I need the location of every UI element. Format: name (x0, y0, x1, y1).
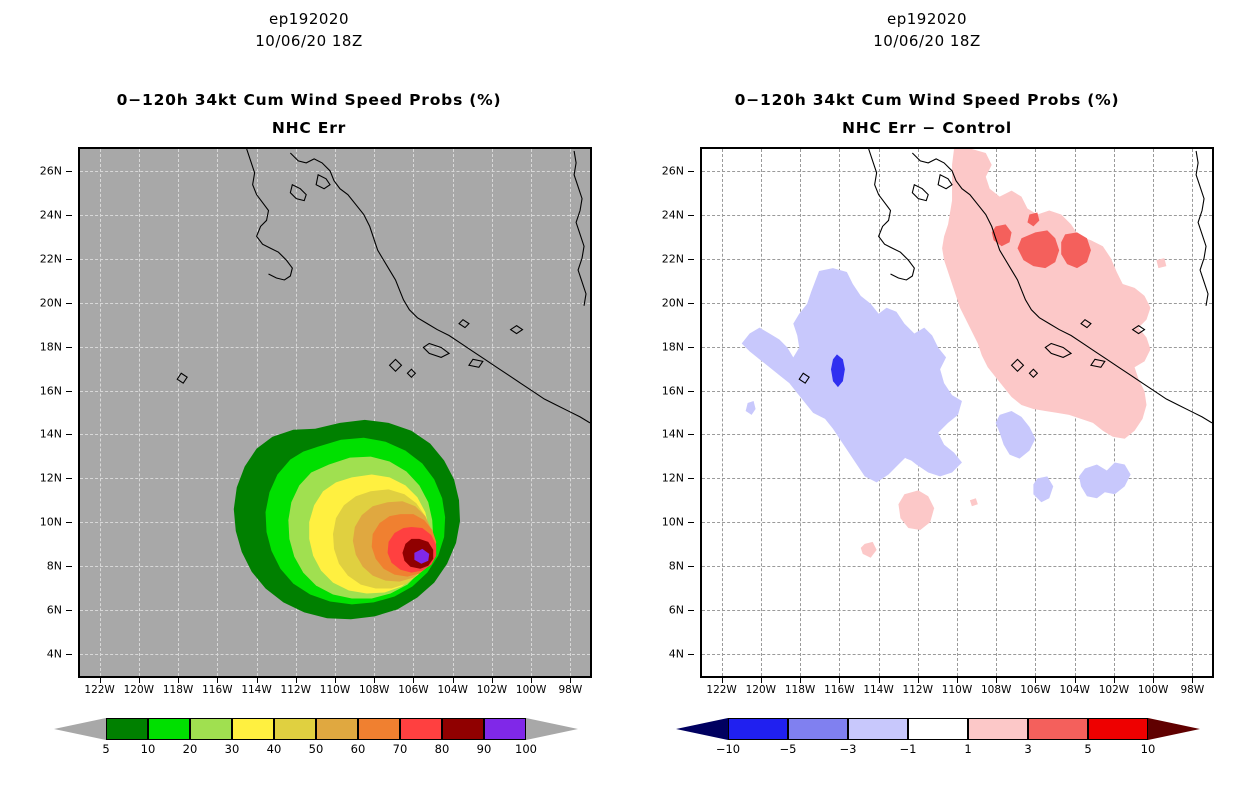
y-tick-label: 12N (40, 472, 62, 485)
colorbar-right-tick-label: 5 (1084, 742, 1091, 756)
colorbar-labels-right: −10−5−3−113510 (728, 742, 1148, 760)
y-tick-label: 22N (40, 252, 62, 265)
colorbar-right-tick-label: 1 (964, 742, 971, 756)
y-tick-mark (688, 610, 694, 611)
y-tick-label: 6N (47, 604, 62, 617)
x-tick-mark (413, 677, 414, 683)
y-tick-label: 16N (662, 384, 684, 397)
colorbar-left-tick-label: 40 (267, 742, 282, 756)
x-tick-label: 100W (516, 684, 546, 696)
colorbar-left-segment (274, 718, 316, 740)
x-tick-label: 122W (706, 684, 736, 696)
colorbar-right (728, 718, 1148, 740)
y-tick-label: 24N (662, 208, 684, 221)
y-tick-label: 14N (662, 428, 684, 441)
y-tick-mark (66, 259, 72, 260)
y-tick-label: 4N (669, 648, 684, 661)
colorbar-right-tick-label: −3 (840, 742, 857, 756)
y-tick-mark (688, 303, 694, 304)
x-tick-label: 114W (241, 684, 271, 696)
x-tick-mark (1035, 677, 1036, 683)
x-tick-label: 120W (124, 684, 154, 696)
colorbar-left-tick-label: 100 (515, 742, 537, 756)
x-tick-label: 116W (824, 684, 854, 696)
y-tick-label: 24N (40, 208, 62, 221)
x-tick-mark (335, 677, 336, 683)
x-tick-mark (1153, 677, 1154, 683)
colorbar-left-segment (106, 718, 148, 740)
colorbar-right-segment (1088, 718, 1148, 740)
colorbar-right-segment (728, 718, 788, 740)
colorbar-left-segment (400, 718, 442, 740)
chart-subtitle-left: NHC Err (0, 119, 618, 137)
y-tick-label: 6N (669, 604, 684, 617)
y-tick-mark (688, 566, 694, 567)
colorbar-left-tick-label: 5 (102, 742, 109, 756)
y-tick-label: 10N (40, 516, 62, 529)
colorbar-left-tick-label: 90 (477, 742, 492, 756)
y-tick-label: 12N (662, 472, 684, 485)
y-tick-mark (66, 303, 72, 304)
storm-id-right: ep192020 (618, 10, 1236, 28)
y-tick-label: 10N (662, 516, 684, 529)
x-tick-mark (178, 677, 179, 683)
y-tick-label: 26N (662, 164, 684, 177)
colorbar-left-segment (232, 718, 274, 740)
x-tick-mark (879, 677, 880, 683)
x-tick-mark (722, 677, 723, 683)
x-tick-label: 98W (559, 684, 583, 696)
y-tick-mark (688, 347, 694, 348)
y-tick-label: 20N (662, 296, 684, 309)
x-tick-label: 120W (746, 684, 776, 696)
x-tick-label: 102W (477, 684, 507, 696)
x-tick-mark (296, 677, 297, 683)
y-tick-mark (688, 654, 694, 655)
colorbar-right-tick-label: −5 (780, 742, 797, 756)
colorbar-right-over-arrow (1148, 718, 1200, 740)
x-tick-label: 100W (1138, 684, 1168, 696)
x-tick-label: 118W (785, 684, 815, 696)
y-tick-mark (66, 215, 72, 216)
y-tick-mark (688, 215, 694, 216)
colorbar-right-tick-label: −1 (900, 742, 917, 756)
colorbar-left-tick-label: 50 (309, 742, 324, 756)
y-tick-mark (66, 391, 72, 392)
x-tick-mark (800, 677, 801, 683)
y-tick-mark (66, 654, 72, 655)
colorbar-left-tick-label: 60 (351, 742, 366, 756)
y-axis-right: 26N24N22N20N18N16N14N12N10N8N6N4N (622, 147, 694, 678)
colorbar-right-tick-label: 3 (1024, 742, 1031, 756)
x-tick-label: 114W (863, 684, 893, 696)
x-tick-mark (957, 677, 958, 683)
x-tick-mark (839, 677, 840, 683)
x-tick-label: 104W (437, 684, 467, 696)
y-tick-mark (688, 478, 694, 479)
x-tick-label: 112W (903, 684, 933, 696)
x-tick-label: 110W (942, 684, 972, 696)
y-tick-label: 18N (40, 340, 62, 353)
colorbar-right-under-arrow (676, 718, 728, 740)
x-tick-label: 98W (1181, 684, 1205, 696)
y-tick-label: 16N (40, 384, 62, 397)
x-tick-label: 112W (281, 684, 311, 696)
x-tick-mark (1114, 677, 1115, 683)
y-tick-mark (688, 434, 694, 435)
chart-subtitle-right: NHC Err − Control (618, 119, 1236, 137)
colorbar-right-tick-label: 10 (1141, 742, 1156, 756)
x-tick-mark (918, 677, 919, 683)
x-tick-mark (139, 677, 140, 683)
x-tick-label: 102W (1099, 684, 1129, 696)
colorbar-right-tick-label: −10 (716, 742, 740, 756)
x-tick-label: 122W (84, 684, 114, 696)
y-tick-mark (688, 391, 694, 392)
map-plot-left (78, 147, 592, 678)
y-tick-mark (688, 259, 694, 260)
y-tick-mark (66, 566, 72, 567)
x-tick-mark (531, 677, 532, 683)
storm-id-left: ep192020 (0, 10, 618, 28)
colorbar-right-segment (788, 718, 848, 740)
y-tick-label: 20N (40, 296, 62, 309)
colorbar-right-segment (848, 718, 908, 740)
datetime-left: 10/06/20 18Z (0, 32, 618, 50)
y-tick-label: 22N (662, 252, 684, 265)
x-axis-right: 122W120W118W116W114W112W110W108W106W104W… (700, 684, 1214, 706)
y-tick-mark (66, 347, 72, 348)
colorbar-left-segment (484, 718, 526, 740)
x-tick-mark (1075, 677, 1076, 683)
colorbar-left-under-arrow (54, 718, 106, 740)
y-tick-label: 14N (40, 428, 62, 441)
y-tick-mark (66, 434, 72, 435)
x-tick-mark (996, 677, 997, 683)
y-tick-label: 18N (662, 340, 684, 353)
y-tick-mark (66, 171, 72, 172)
y-tick-label: 26N (40, 164, 62, 177)
coastline-left (80, 149, 590, 676)
x-tick-mark (570, 677, 571, 683)
colorbar-left-tick-label: 10 (141, 742, 156, 756)
x-axis-left: 122W120W118W116W114W112W110W108W106W104W… (78, 684, 592, 706)
x-tick-label: 106W (1020, 684, 1050, 696)
colorbar-right-segment (1028, 718, 1088, 740)
y-tick-mark (688, 522, 694, 523)
y-tick-mark (66, 610, 72, 611)
chart-title-left: 0−120h 34kt Cum Wind Speed Probs (%) (0, 91, 618, 109)
x-tick-label: 108W (981, 684, 1011, 696)
y-tick-label: 4N (47, 648, 62, 661)
x-tick-mark (453, 677, 454, 683)
colorbar-labels-left: 5102030405060708090100 (106, 742, 526, 760)
colorbar-left-segment (148, 718, 190, 740)
y-tick-label: 8N (47, 560, 62, 573)
x-tick-label: 108W (359, 684, 389, 696)
x-tick-label: 116W (202, 684, 232, 696)
datetime-right: 10/06/20 18Z (618, 32, 1236, 50)
colorbar-left-tick-label: 20 (183, 742, 198, 756)
colorbar-left-over-arrow (526, 718, 578, 740)
x-tick-mark (257, 677, 258, 683)
colorbar-left-segment (358, 718, 400, 740)
panel-nhc-err: ep192020 10/06/20 18Z 0−120h 34kt Cum Wi… (0, 0, 618, 800)
map-plot-right (700, 147, 1214, 678)
colorbar-left-segment (190, 718, 232, 740)
colorbar-right-segment (908, 718, 968, 740)
y-tick-mark (66, 478, 72, 479)
x-tick-mark (761, 677, 762, 683)
chart-title-right: 0−120h 34kt Cum Wind Speed Probs (%) (618, 91, 1236, 109)
x-tick-mark (217, 677, 218, 683)
y-tick-mark (688, 171, 694, 172)
coastline-right (702, 149, 1212, 676)
x-tick-mark (100, 677, 101, 683)
colorbar-left (106, 718, 526, 740)
colorbar-left-segment (442, 718, 484, 740)
colorbar-left-tick-label: 80 (435, 742, 450, 756)
y-tick-mark (66, 522, 72, 523)
y-axis-left: 26N24N22N20N18N16N14N12N10N8N6N4N (0, 147, 72, 678)
colorbar-right-segment (968, 718, 1028, 740)
x-tick-label: 106W (398, 684, 428, 696)
x-tick-label: 118W (163, 684, 193, 696)
x-tick-mark (1192, 677, 1193, 683)
colorbar-left-tick-label: 30 (225, 742, 240, 756)
colorbar-left-segment (316, 718, 358, 740)
x-tick-mark (492, 677, 493, 683)
colorbar-left-tick-label: 70 (393, 742, 408, 756)
y-tick-label: 8N (669, 560, 684, 573)
x-tick-mark (374, 677, 375, 683)
x-tick-label: 110W (320, 684, 350, 696)
x-tick-label: 104W (1059, 684, 1089, 696)
